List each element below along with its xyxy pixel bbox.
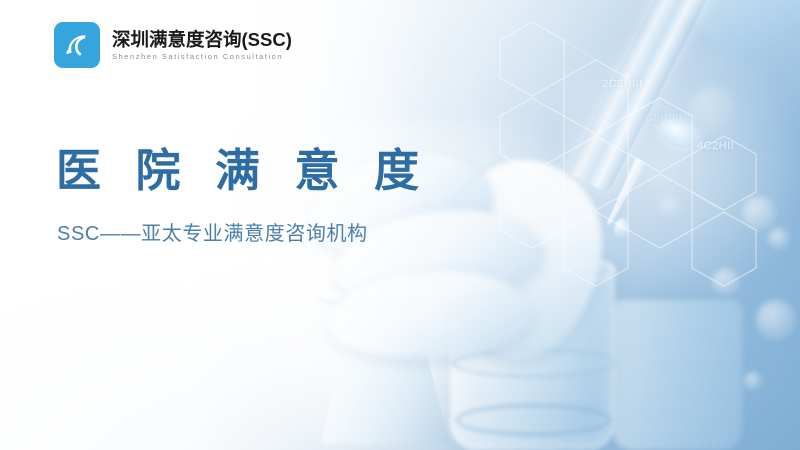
page-subtitle: SSC——亚太专业满意度咨询机构 [57, 221, 368, 247]
brand-lockup: 深圳满意度咨询(SSC) Shenzhen Satisfaction Consu… [54, 22, 292, 68]
slide-content: 深圳满意度咨询(SSC) Shenzhen Satisfaction Consu… [0, 0, 800, 450]
brand-text-block: 深圳满意度咨询(SSC) Shenzhen Satisfaction Consu… [112, 29, 292, 60]
dolphin-logo-icon [54, 22, 100, 68]
page-title: 医 院 满 意 度 [56, 146, 430, 196]
title-slide: 2C2HIII C8H0II 4C2HII 深圳满意度咨询(SSC) Shenz… [0, 0, 800, 450]
brand-name-cn: 深圳满意度咨询(SSC) [112, 29, 292, 50]
brand-name-en: Shenzhen Satisfaction Consultation [112, 52, 292, 61]
